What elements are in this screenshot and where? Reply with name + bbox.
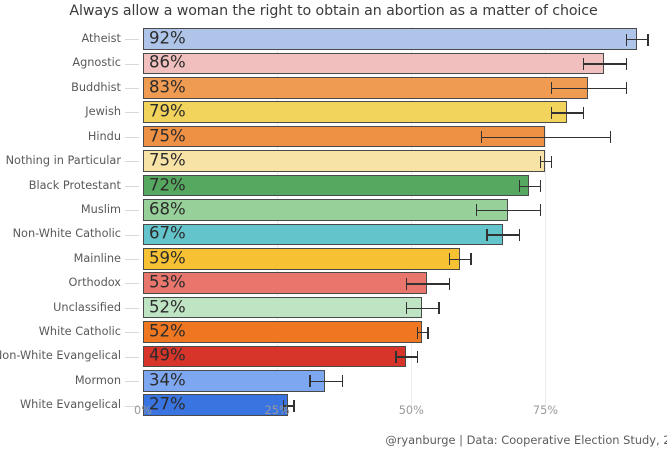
- bar-row: 49%: [143, 344, 667, 368]
- error-bar-cap-low: [626, 34, 627, 46]
- bar: 79%: [143, 101, 567, 123]
- y-axis-tick: [125, 381, 139, 382]
- error-bar-cap-high: [626, 82, 627, 94]
- bar: 92%: [143, 28, 637, 50]
- y-axis-tick: [125, 64, 139, 65]
- caption-text: @ryanburge | Data: Cooperative Election …: [385, 433, 667, 447]
- bar-value-label: 83%: [149, 79, 186, 96]
- error-bar: [519, 186, 540, 187]
- y-axis-tick: [125, 39, 139, 40]
- bar: 75%: [143, 150, 545, 172]
- y-axis-tick: [125, 161, 139, 162]
- error-bar-cap-high: [551, 156, 552, 168]
- bar: 59%: [143, 248, 460, 270]
- error-bar: [583, 63, 626, 64]
- error-bar-cap-high: [540, 180, 541, 192]
- error-bar: [551, 112, 583, 113]
- error-bar-cap-high: [470, 253, 471, 265]
- error-bar-cap-high: [427, 327, 428, 339]
- error-bar: [540, 161, 551, 162]
- bar-value-label: 72%: [149, 177, 186, 194]
- error-bar-cap-high: [647, 34, 648, 46]
- y-axis-tick: [125, 112, 139, 113]
- bar-value-label: 86%: [149, 55, 186, 72]
- y-axis-label: Unclassified: [53, 296, 121, 320]
- y-axis-tick: [125, 137, 139, 138]
- bar-value-label: 49%: [149, 348, 186, 365]
- bar: 53%: [143, 272, 427, 294]
- error-bar-cap-low: [551, 82, 552, 94]
- bar-row: 52%: [143, 320, 667, 344]
- bar-rows: 92%86%83%79%75%75%72%68%67%59%53%52%52%4…: [143, 27, 667, 406]
- error-bar-cap-high: [449, 278, 450, 290]
- y-axis-tick: [125, 210, 139, 211]
- error-bar: [486, 234, 518, 235]
- error-bar: [309, 381, 341, 382]
- y-axis-tick: [125, 283, 139, 284]
- bar-chart: Always allow a woman the right to obtain…: [0, 0, 667, 450]
- x-axis-tick-label: 25%: [265, 404, 290, 417]
- error-bar-cap-low: [551, 107, 552, 119]
- y-axis-label: White Catholic: [39, 320, 121, 344]
- error-bar-cap-low: [540, 156, 541, 168]
- bar-row: 52%: [143, 296, 667, 320]
- y-axis-tick: [125, 308, 139, 309]
- bar-value-label: 34%: [149, 372, 186, 389]
- error-bar-cap-high: [626, 58, 627, 70]
- error-bar-cap-low: [486, 229, 487, 241]
- bar-value-label: 68%: [149, 201, 186, 218]
- error-bar-cap-high: [438, 302, 439, 314]
- bar-row: 53%: [143, 271, 667, 295]
- bar: 52%: [143, 297, 422, 319]
- bar-value-label: 92%: [149, 30, 186, 46]
- y-axis-tick: [125, 259, 139, 260]
- bar-row: 34%: [143, 369, 667, 393]
- bar-row: 92%: [143, 27, 667, 51]
- error-bar: [626, 39, 647, 40]
- error-bar: [481, 137, 610, 138]
- y-axis-label: Non-White Evangelical: [0, 344, 121, 368]
- plot-area: 92%86%83%79%75%75%72%68%67%59%53%52%52%4…: [143, 27, 667, 406]
- x-axis-tick-label: 75%: [533, 404, 558, 417]
- error-bar: [417, 332, 428, 333]
- error-bar-cap-low: [481, 131, 482, 143]
- bar: 34%: [143, 370, 325, 392]
- error-bar: [406, 283, 449, 284]
- bar-value-label: 75%: [149, 152, 186, 169]
- bar-row: 72%: [143, 174, 667, 198]
- error-bar-cap-high: [342, 375, 343, 387]
- y-axis-label: Agnostic: [72, 51, 121, 75]
- error-bar-cap-low: [406, 278, 407, 290]
- chart-caption: @ryanburge | Data: Cooperative Election …: [0, 433, 667, 447]
- error-bar-cap-low: [476, 204, 477, 216]
- error-bar: [476, 210, 540, 211]
- bar-value-label: 52%: [149, 299, 186, 316]
- y-axis-tick: [125, 332, 139, 333]
- error-bar-cap-high: [540, 204, 541, 216]
- y-axis-label: Mainline: [74, 247, 121, 271]
- error-bar-cap-low: [406, 302, 407, 314]
- bar-row: 83%: [143, 76, 667, 100]
- bar-value-label: 67%: [149, 226, 186, 243]
- y-axis-tick: [125, 357, 139, 358]
- y-axis-category-labels: AtheistAgnosticBuddhistJewishHinduNothin…: [0, 27, 143, 406]
- bar-row: 75%: [143, 125, 667, 149]
- bar-row: 59%: [143, 247, 667, 271]
- bar-value-label: 75%: [149, 128, 186, 145]
- error-bar-cap-low: [309, 375, 310, 387]
- y-axis-tick: [125, 88, 139, 89]
- bar-value-label: 79%: [149, 104, 186, 121]
- bar: 67%: [143, 224, 503, 246]
- y-axis-label: Atheist: [81, 27, 121, 51]
- bar: 49%: [143, 346, 406, 368]
- bar-row: 79%: [143, 100, 667, 124]
- y-axis-label: Hindu: [88, 125, 121, 149]
- y-axis-label: Black Protestant: [29, 174, 121, 198]
- bar: 68%: [143, 199, 508, 221]
- bar-row: 75%: [143, 149, 667, 173]
- bar-value-label: 52%: [149, 323, 186, 340]
- error-bar-cap-low: [449, 253, 450, 265]
- y-axis-label: Non-White Catholic: [13, 222, 121, 246]
- bar-row: 68%: [143, 198, 667, 222]
- y-axis-label: Nothing in Particular: [6, 149, 121, 173]
- bar: 83%: [143, 77, 588, 99]
- bar: 72%: [143, 175, 529, 197]
- bar-row: 86%: [143, 51, 667, 75]
- chart-title: Always allow a woman the right to obtain…: [0, 3, 667, 19]
- bar-row: 67%: [143, 222, 667, 246]
- bar-value-label: 59%: [149, 250, 186, 267]
- x-axis-tick-label: 0%: [134, 404, 152, 417]
- x-axis-tick-label: 50%: [399, 404, 424, 417]
- y-axis-label: Orthodox: [69, 271, 121, 295]
- error-bar: [551, 88, 626, 89]
- y-axis-label: Muslim: [81, 198, 121, 222]
- error-bar-cap-low: [519, 180, 520, 192]
- y-axis-label: Jewish: [85, 100, 121, 124]
- error-bar-cap-low: [395, 351, 396, 363]
- error-bar-cap-high: [583, 107, 584, 119]
- y-axis-label: Buddhist: [71, 76, 121, 100]
- x-axis-tick-labels: 0%25%50%75%: [0, 404, 667, 422]
- y-axis-tick: [125, 186, 139, 187]
- error-bar: [395, 356, 416, 357]
- error-bar-cap-low: [417, 327, 418, 339]
- bar: 52%: [143, 321, 422, 343]
- error-bar-cap-low: [583, 58, 584, 70]
- y-axis-tick: [125, 235, 139, 236]
- error-bar: [449, 259, 470, 260]
- y-axis-label: Mormon: [75, 369, 121, 393]
- error-bar: [406, 308, 438, 309]
- bar: 86%: [143, 53, 604, 75]
- error-bar-cap-high: [519, 229, 520, 241]
- error-bar-cap-high: [610, 131, 611, 143]
- error-bar-cap-high: [417, 351, 418, 363]
- bar-value-label: 53%: [149, 275, 186, 292]
